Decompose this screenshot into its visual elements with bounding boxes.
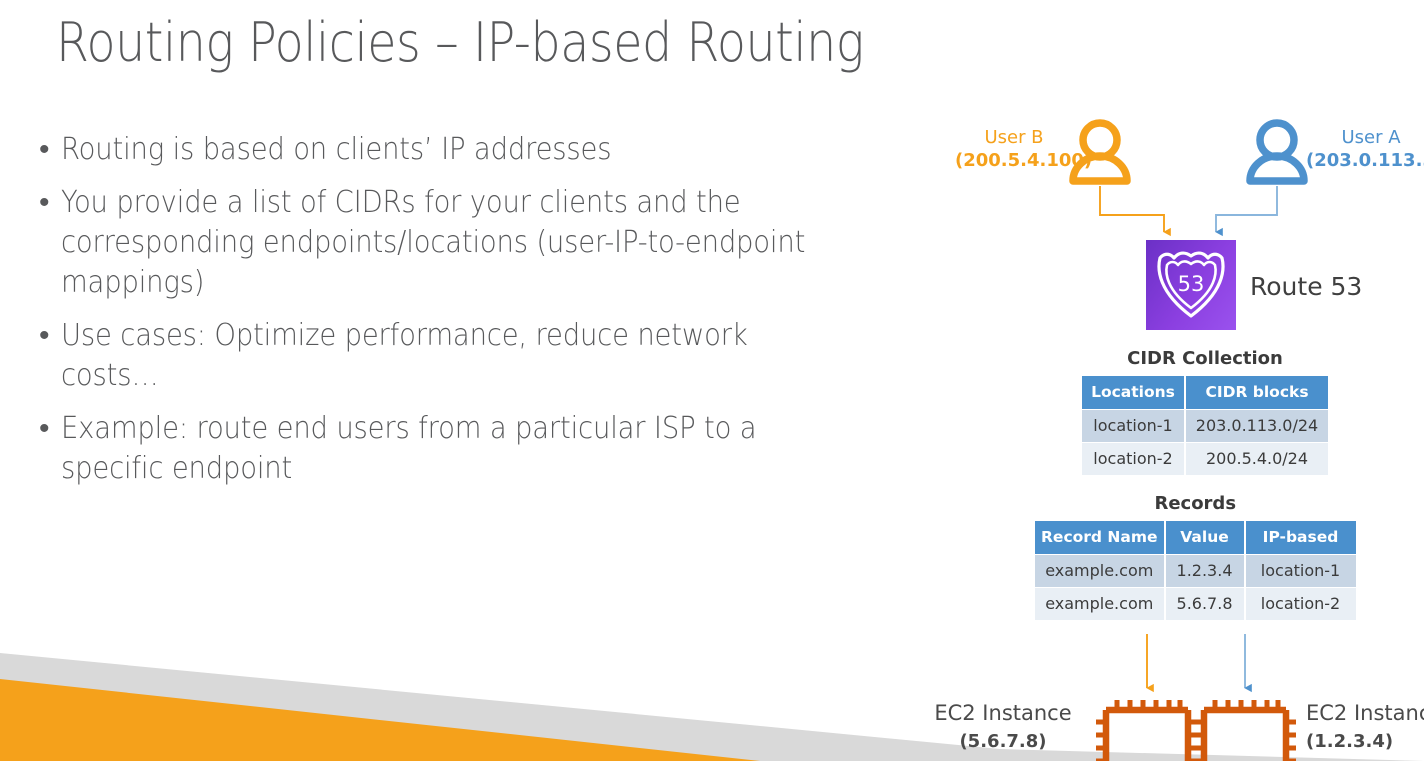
cidr-collection-title: CIDR Collection <box>1080 348 1330 369</box>
bullet-text: Routing is based on clients’ IP addresse… <box>61 130 831 170</box>
ec2-right-name: EC2 Instance <box>1306 701 1424 725</box>
bullet-text: Use cases: Optimize performance, reduce … <box>61 316 831 396</box>
bullet-marker-icon: • <box>36 409 61 449</box>
ec2-left-name: EC2 Instance <box>934 701 1071 725</box>
bullet-list: • Routing is based on clients’ IP addres… <box>36 130 916 502</box>
column-header-record-name: Record Name <box>1035 521 1164 554</box>
cell-ip-based: location-2 <box>1246 588 1356 620</box>
bullet-text: Example: route end users from a particul… <box>61 409 831 489</box>
bullet-marker-icon: • <box>36 316 61 356</box>
table-row: location-2 200.5.4.0/24 <box>1082 443 1328 475</box>
user-a-name: User A <box>1341 127 1400 148</box>
column-header-value: Value <box>1166 521 1244 554</box>
user-b-ip: (200.5.4.100) <box>955 150 1092 171</box>
table-header-row: Locations CIDR blocks <box>1082 376 1328 409</box>
table-header-row: Record Name Value IP-based <box>1035 521 1356 554</box>
cell-record-name: example.com <box>1035 588 1164 620</box>
footer-decoration <box>0 631 1424 761</box>
ec2-left-label: EC2 Instance (5.6.7.8) <box>928 700 1078 755</box>
records-block: Records Record Name Value IP-based examp… <box>1033 493 1358 621</box>
ec2-right-label: EC2 Instance (1.2.3.4) <box>1306 700 1424 755</box>
user-a-label-block: User A (203.0.113.56) <box>1306 126 1424 172</box>
table-row: location-1 203.0.113.0/24 <box>1082 410 1328 442</box>
cell-cidr: 203.0.113.0/24 <box>1186 410 1328 442</box>
slide-canvas: Routing Policies – IP-based Routing • Ro… <box>0 0 1424 761</box>
ec2-left-ip: (5.6.7.8) <box>959 731 1046 752</box>
footer-gray-band <box>0 653 1424 761</box>
page-title: Routing Policies – IP-based Routing <box>56 14 864 72</box>
cell-location: location-2 <box>1082 443 1184 475</box>
user-a-person-icon <box>1250 123 1304 181</box>
connector-user-b-to-route53 <box>1100 186 1164 232</box>
list-item: • You provide a list of CIDRs for your c… <box>36 183 916 303</box>
ec2-right-ip: (1.2.3.4) <box>1306 731 1393 752</box>
list-item: • Routing is based on clients’ IP addres… <box>36 130 916 170</box>
cell-value: 1.2.3.4 <box>1166 555 1244 587</box>
cidr-collection-block: CIDR Collection Locations CIDR blocks lo… <box>1080 348 1330 476</box>
cidr-collection-table: Locations CIDR blocks location-1 203.0.1… <box>1080 375 1330 476</box>
column-header-cidr-blocks: CIDR blocks <box>1186 376 1328 409</box>
route53-badge-number: 53 <box>1178 272 1205 296</box>
ec2-left-icon <box>1096 700 1198 761</box>
route53-icon: 53 <box>1146 240 1236 330</box>
route53-shield-icon: 53 <box>1146 240 1236 330</box>
footer-orange-band <box>0 679 760 761</box>
user-a-ip: (203.0.113.56) <box>1306 150 1424 171</box>
user-b-label: User B (200.5.4.100) <box>955 126 1073 172</box>
cell-value: 5.6.7.8 <box>1166 588 1244 620</box>
list-item: • Example: route end users from a partic… <box>36 409 916 489</box>
column-header-locations: Locations <box>1082 376 1184 409</box>
route53-label: Route 53 <box>1250 272 1362 301</box>
table-row: example.com 5.6.7.8 location-2 <box>1035 588 1356 620</box>
cell-ip-based: location-1 <box>1246 555 1356 587</box>
bullet-marker-icon: • <box>36 130 61 170</box>
cell-location: location-1 <box>1082 410 1184 442</box>
records-table: Record Name Value IP-based example.com 1… <box>1033 520 1358 621</box>
user-b-label-block: User B (200.5.4.100) <box>955 126 1073 172</box>
cell-record-name: example.com <box>1035 555 1164 587</box>
ec2-right-icon <box>1194 700 1296 761</box>
table-row: example.com 1.2.3.4 location-1 <box>1035 555 1356 587</box>
cell-cidr: 200.5.4.0/24 <box>1186 443 1328 475</box>
bullet-text: You provide a list of CIDRs for your cli… <box>61 183 831 303</box>
user-a-label: User A (203.0.113.56) <box>1306 126 1424 172</box>
user-b-name: User B <box>984 127 1043 148</box>
list-item: • Use cases: Optimize performance, reduc… <box>36 316 916 396</box>
column-header-ip-based: IP-based <box>1246 521 1356 554</box>
connector-user-a-to-route53 <box>1216 186 1277 232</box>
bullet-marker-icon: • <box>36 183 61 223</box>
records-title: Records <box>1033 493 1358 514</box>
